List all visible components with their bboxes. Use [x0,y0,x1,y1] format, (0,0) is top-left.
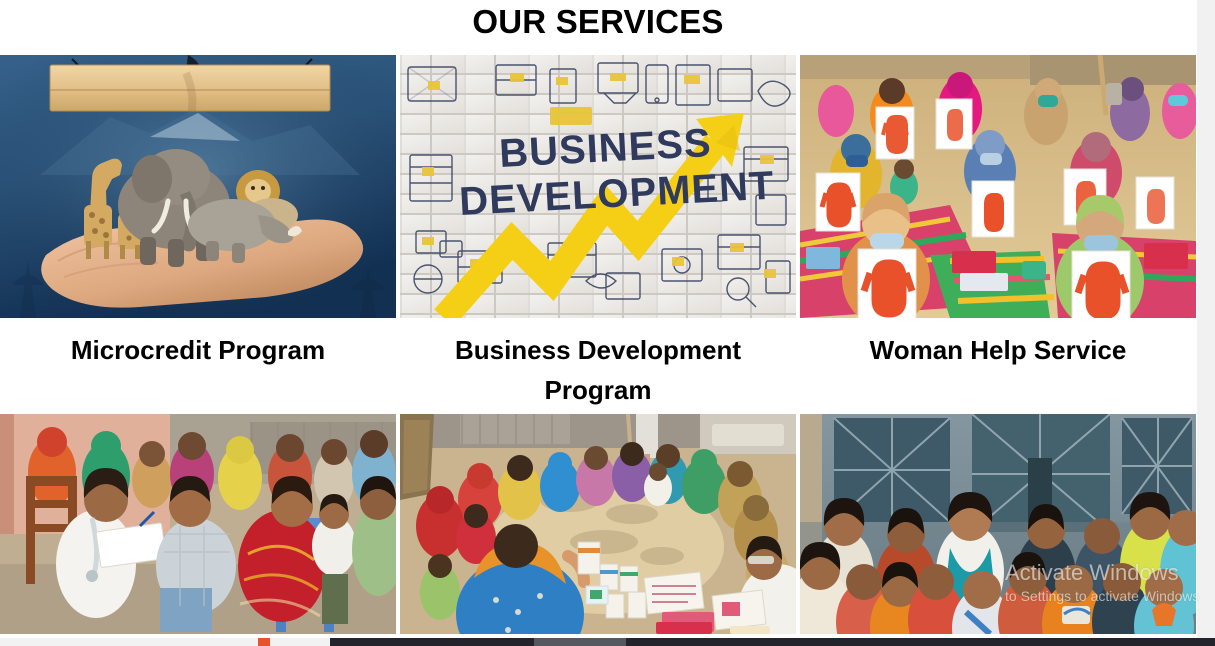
service-card-health-camp[interactable] [0,414,396,646]
service-card-community-circle[interactable] [400,414,796,646]
page-title: OUR SERVICES [0,0,1196,42]
taskbar-mid-segment[interactable] [270,638,330,646]
service-card-business-development[interactable]: BUSINESS DEVELOPMENT Business Developmen… [400,55,796,410]
community-health-education-image[interactable] [400,414,796,634]
microcredit-program-image[interactable] [0,55,396,318]
health-camp-image[interactable] [0,414,396,634]
service-caption-business-development: Business Development Program [400,318,796,410]
taskbar-rest [626,638,1215,646]
services-row-1: Microcredit Program [0,55,1196,410]
service-caption-microcredit: Microcredit Program [0,318,396,410]
scrollbar-gutter[interactable] [1196,0,1215,646]
taskbar-app-indicator[interactable] [258,638,270,646]
services-grid: Microcredit Program [0,55,1196,646]
woman-help-service-image[interactable] [800,55,1196,318]
service-card-children-group[interactable] [800,414,1196,646]
business-development-program-image[interactable]: BUSINESS DEVELOPMENT [400,55,796,318]
service-card-microcredit[interactable]: Microcredit Program [0,55,396,410]
service-caption-woman-help: Woman Help Service [800,318,1196,410]
taskbar-gap [330,638,534,646]
page-root: OUR SERVICES [0,0,1215,646]
children-group-portrait-image[interactable] [800,414,1196,634]
taskbar-left-segment[interactable] [0,638,258,646]
taskbar[interactable] [0,638,1215,646]
service-card-woman-help[interactable]: Woman Help Service [800,55,1196,410]
taskbar-active-window[interactable] [534,638,626,646]
services-row-2 [0,414,1196,646]
